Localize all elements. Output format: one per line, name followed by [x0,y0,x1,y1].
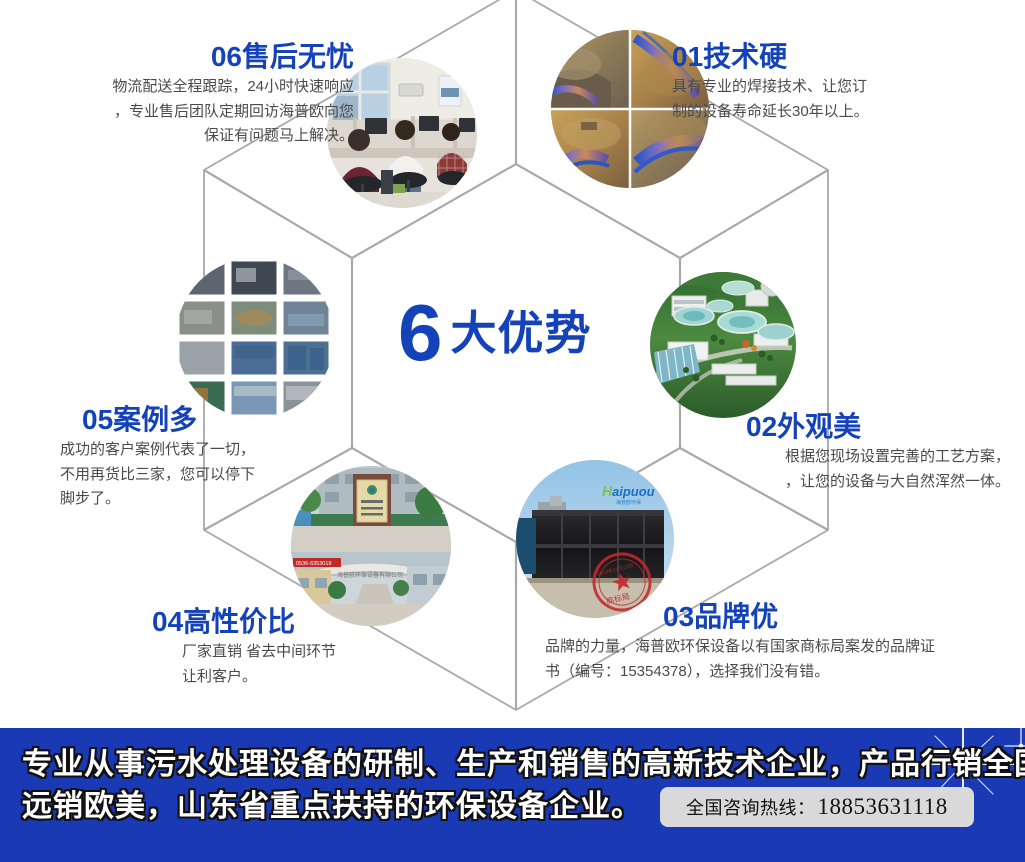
advantage-body-04: 厂家直销 省去中间环节 让利客户。 [182,640,482,689]
advantage-title-06: 06售后无忧 [18,42,354,71]
svg-text:0536-6353019: 0536-6353019 [296,561,331,567]
advantage-title-04: 04高性价比 [152,607,482,636]
photo-case-collage [176,258,334,418]
advantage-title-01: 01技术硬 [672,42,1002,71]
advantage-body-02: 根据您现场设置完善的工艺方案， ，让您的设备与大自然浑然一体。 [630,445,1010,494]
hotline-label: 全国咨询热线： [686,794,816,820]
advantage-title-05: 05案例多 [82,405,360,434]
advantage-title-03: 03品牌优 [663,602,945,631]
advantage-title-02: 02外观美 [746,412,1010,441]
spoke-upper-left [204,170,352,258]
svg-text:海普欧环保设备有限公司: 海普欧环保设备有限公司 [337,571,403,579]
spoke-upper-right [680,170,828,258]
center-title: 6 大优势 [398,288,638,378]
center-number: 6 [398,293,441,373]
center-label: 大优势 [451,310,592,356]
svg-text:海普欧环保: 海普欧环保 [616,499,641,506]
advantage-block-01: 01技术硬 具有专业的焊接技术、让您订 制的设备寿命延长30年以上。 [672,42,1002,124]
advantage-block-06: 06售后无忧 物流配送全程跟踪，24小时快速响应 ，专业售后团队定期回访海普欧向… [18,42,354,148]
hotline-pill[interactable]: 全国咨询热线： 18853631118 [660,787,974,827]
banner-line-1: 专业从事污水处理设备的研制、生产和销售的高新技术企业，产品行销全国并 [22,744,1007,785]
advantage-body-01: 具有专业的焊接技术、让您订 制的设备寿命延长30年以上。 [672,75,1002,124]
banner-line-2: 远销欧美，山东省重点扶持的环保设备企业。 [22,786,642,827]
advantage-body-06: 物流配送全程跟踪，24小时快速响应 ，专业售后团队定期回访海普欧向您 保证有问题… [18,75,354,148]
advantage-block-03: 03品牌优 品牌的力量，海普欧环保设备以有国家商标局案发的品牌证 书（编号：15… [545,602,945,684]
advantage-body-05: 成功的客户案例代表了一切， 不用再货比三家，您可以停下 脚步了。 [60,438,360,511]
advantage-body-03: 品牌的力量，海普欧环保设备以有国家商标局案发的品牌证 书（编号：15354378… [545,635,945,684]
photo-aerial-treatment-plant [650,272,796,418]
advantage-block-04: 04高性价比 厂家直销 省去中间环节 让利客户。 [152,607,482,689]
hotline-number: 18853631118 [818,794,948,820]
bottom-banner: 专业从事污水处理设备的研制、生产和销售的高新技术企业，产品行销全国并 远销欧美，… [0,728,1025,862]
advantage-block-05: 05案例多 成功的客户案例代表了一切， 不用再货比三家，您可以停下 脚步了。 [60,405,360,511]
advantage-block-02: 02外观美 根据您现场设置完善的工艺方案， ，让您的设备与大自然浑然一体。 [630,412,1010,494]
svg-text:H: H [602,483,613,499]
infographic-root: aipuou H 海普欧环保 商标局 201 [0,0,1025,862]
